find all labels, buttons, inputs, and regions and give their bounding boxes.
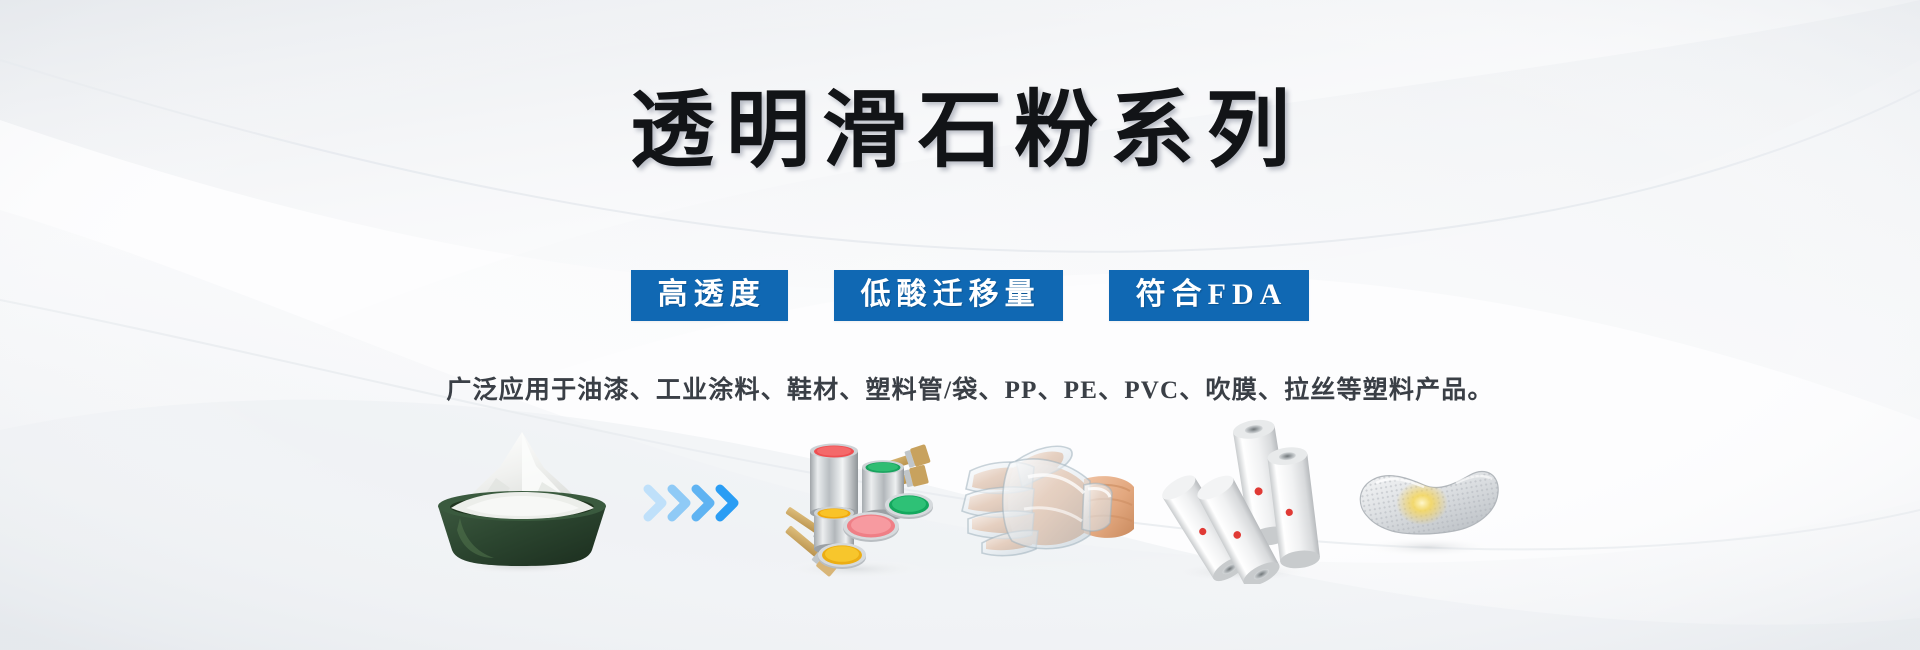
- status-badge-low-acid-migration[interactable]: 低酸迁移量: [834, 270, 1063, 321]
- feature-badge-group: 高透度 低酸迁移量 符合FDA: [0, 270, 1920, 321]
- plastic-film-rolls-image: [1156, 418, 1324, 589]
- paint-cans-icon: [768, 421, 936, 581]
- process-arrows: [642, 471, 746, 535]
- product-image-strip: [0, 418, 1920, 588]
- gloved-hand-image: [958, 431, 1134, 576]
- talc-powder-bowl-image: [424, 426, 620, 581]
- product-banner: 透明滑石粉系列 高透度 低酸迁移量 符合FDA 广泛应用于油漆、工业涂料、鞋材、…: [0, 0, 1920, 650]
- plastic-glove-hand-icon: [958, 431, 1134, 571]
- shoe-sole-image: [1346, 431, 1504, 576]
- talc-powder-bowl-icon: [424, 426, 620, 576]
- page-title: 透明滑石粉系列: [618, 84, 1302, 180]
- title-container: 透明滑石粉系列: [0, 84, 1920, 180]
- paint-cans-image: [768, 421, 936, 586]
- application-description: 广泛应用于油漆、工业涂料、鞋材、塑料管/袋、PP、PE、PVC、吹膜、拉丝等塑料…: [0, 374, 1920, 408]
- status-badge-high-transparency[interactable]: 高透度: [631, 270, 788, 321]
- status-badge-fda-compliant[interactable]: 符合FDA: [1109, 270, 1310, 321]
- film-rolls-icon: [1156, 418, 1324, 584]
- chevron-right-arrows-icon: [642, 471, 746, 535]
- shoe-sole-icon: [1346, 431, 1504, 571]
